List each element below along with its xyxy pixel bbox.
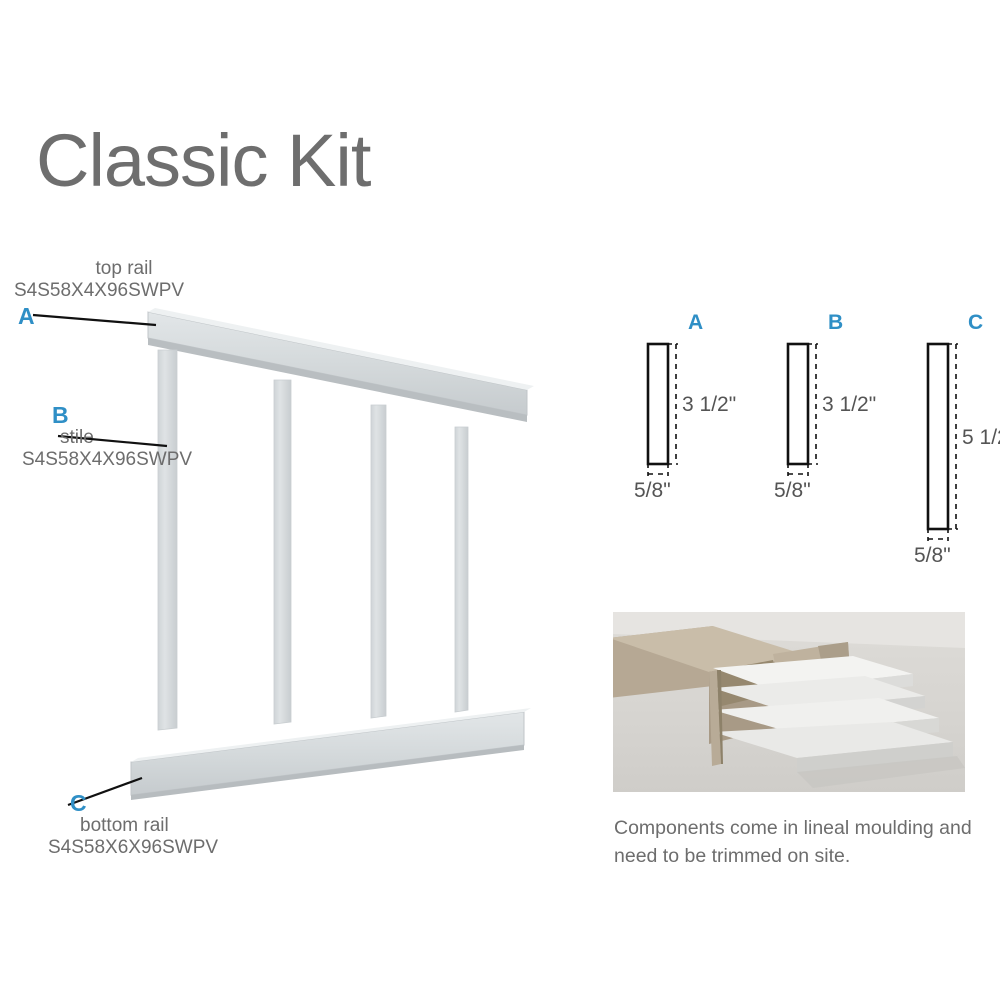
photo-caption-line1: Components come in lineal moulding and (614, 814, 994, 842)
callout-a-name: top rail (64, 258, 184, 280)
cross-section-b-letter: B (828, 312, 843, 333)
top-rail-shape (148, 308, 534, 422)
callout-b-marker: B (52, 404, 192, 427)
cross-section-c-height: 5 1/2" (962, 427, 1000, 448)
callout-c-name: bottom rail (80, 815, 218, 837)
cross-section-c-letter: C (968, 312, 983, 333)
bottom-rail-shape (131, 708, 531, 800)
cross-section-group: A 3 1/2" 5/8" B (620, 312, 1000, 562)
callout-b-code: S4S58X4X96SWPV (22, 449, 192, 471)
callout-a-code: S4S58X4X96SWPV (14, 280, 184, 302)
cross-section-b: B 3 1/2" 5/8" (760, 312, 890, 517)
callout-b-name: stile (60, 427, 192, 449)
stile-shapes (158, 350, 468, 730)
callout-a-marker: A (18, 305, 35, 328)
packaging-photo (613, 612, 965, 792)
callout-c-marker: C (70, 792, 218, 815)
cross-section-a-width: 5/8" (634, 480, 671, 501)
photo-caption-line2: need to be trimmed on site. (614, 842, 994, 870)
cross-section-a-height: 3 1/2" (682, 394, 736, 415)
cross-section-b-width: 5/8" (774, 480, 811, 501)
callout-top-rail: top rail S4S58X4X96SWPV A (14, 258, 184, 302)
callout-bottom-rail: C bottom rail S4S58X6X96SWPV (48, 792, 218, 859)
cross-section-a: A 3 1/2" 5/8" (620, 312, 750, 517)
isometric-panel-illustration (0, 250, 600, 870)
callout-c-code: S4S58X6X96SWPV (48, 837, 218, 859)
page-title: Classic Kit (36, 124, 370, 198)
cross-section-b-height: 3 1/2" (822, 394, 876, 415)
cross-section-c: C 5 1/2" 5/8" (900, 312, 1000, 567)
product-diagram-page: Classic Kit (0, 0, 1000, 1000)
leader-lines (33, 315, 167, 805)
callout-stile: B stile S4S58X4X96SWPV (22, 404, 192, 471)
cross-section-a-letter: A (688, 312, 703, 333)
photo-caption: Components come in lineal moulding and n… (614, 814, 994, 871)
cross-section-c-width: 5/8" (914, 545, 951, 566)
